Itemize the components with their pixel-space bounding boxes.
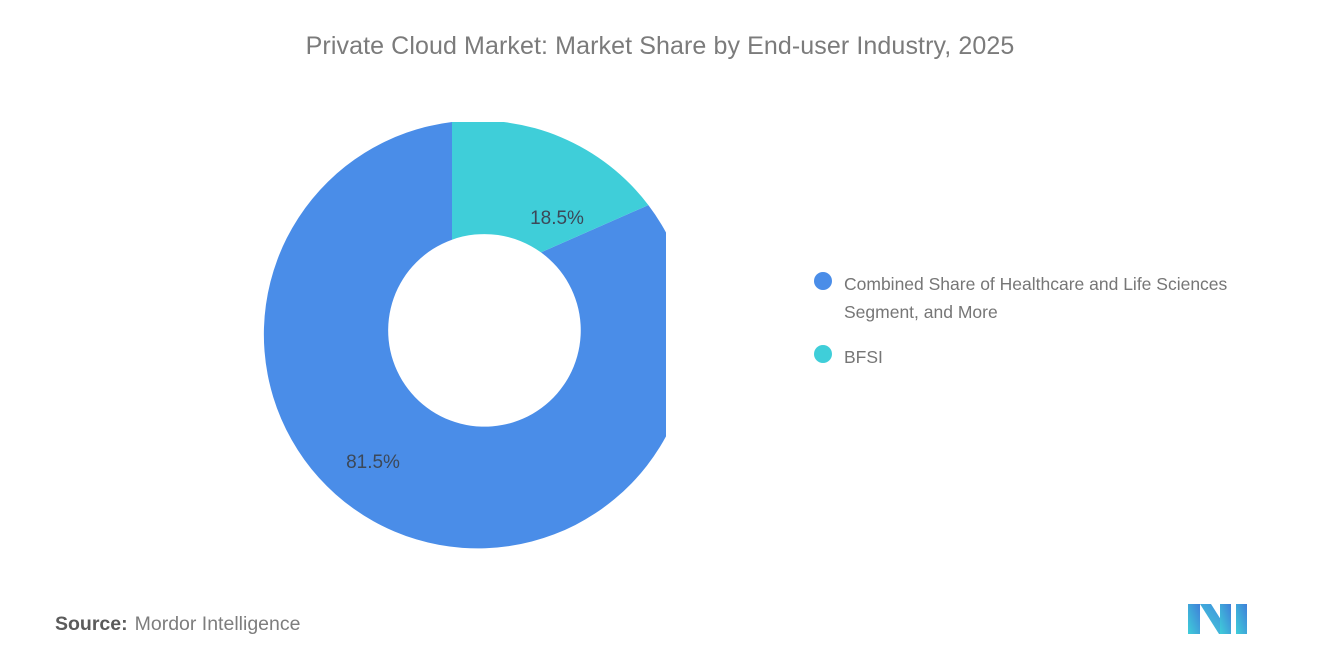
legend: Combined Share of Healthcare and Life Sc… xyxy=(814,270,1264,388)
legend-item-bfsi[interactable]: BFSI xyxy=(814,343,1264,371)
chart-container: Private Cloud Market: Market Share by En… xyxy=(0,0,1320,665)
legend-swatch-icon-bfsi xyxy=(814,345,832,363)
mordor-intelligence-logo-icon xyxy=(1186,598,1256,640)
donut-svg: 18.5% 81.5% xyxy=(238,122,666,550)
source-line: Source:Mordor Intelligence xyxy=(55,613,300,636)
legend-label-bfsi: BFSI xyxy=(844,343,883,371)
legend-label-combined-share: Combined Share of Healthcare and Life Sc… xyxy=(844,270,1244,326)
slice-label-combined-share: 81.5% xyxy=(346,452,400,473)
slice-label-bfsi: 18.5% xyxy=(530,208,584,229)
legend-swatch-icon-combined-share xyxy=(814,272,832,290)
page-title: Private Cloud Market: Market Share by En… xyxy=(0,32,1320,61)
source-value: Mordor Intelligence xyxy=(135,613,301,635)
donut-chart: 18.5% 81.5% xyxy=(238,122,666,550)
legend-item-combined-share[interactable]: Combined Share of Healthcare and Life Sc… xyxy=(814,270,1264,326)
source-label: Source: xyxy=(55,613,128,635)
